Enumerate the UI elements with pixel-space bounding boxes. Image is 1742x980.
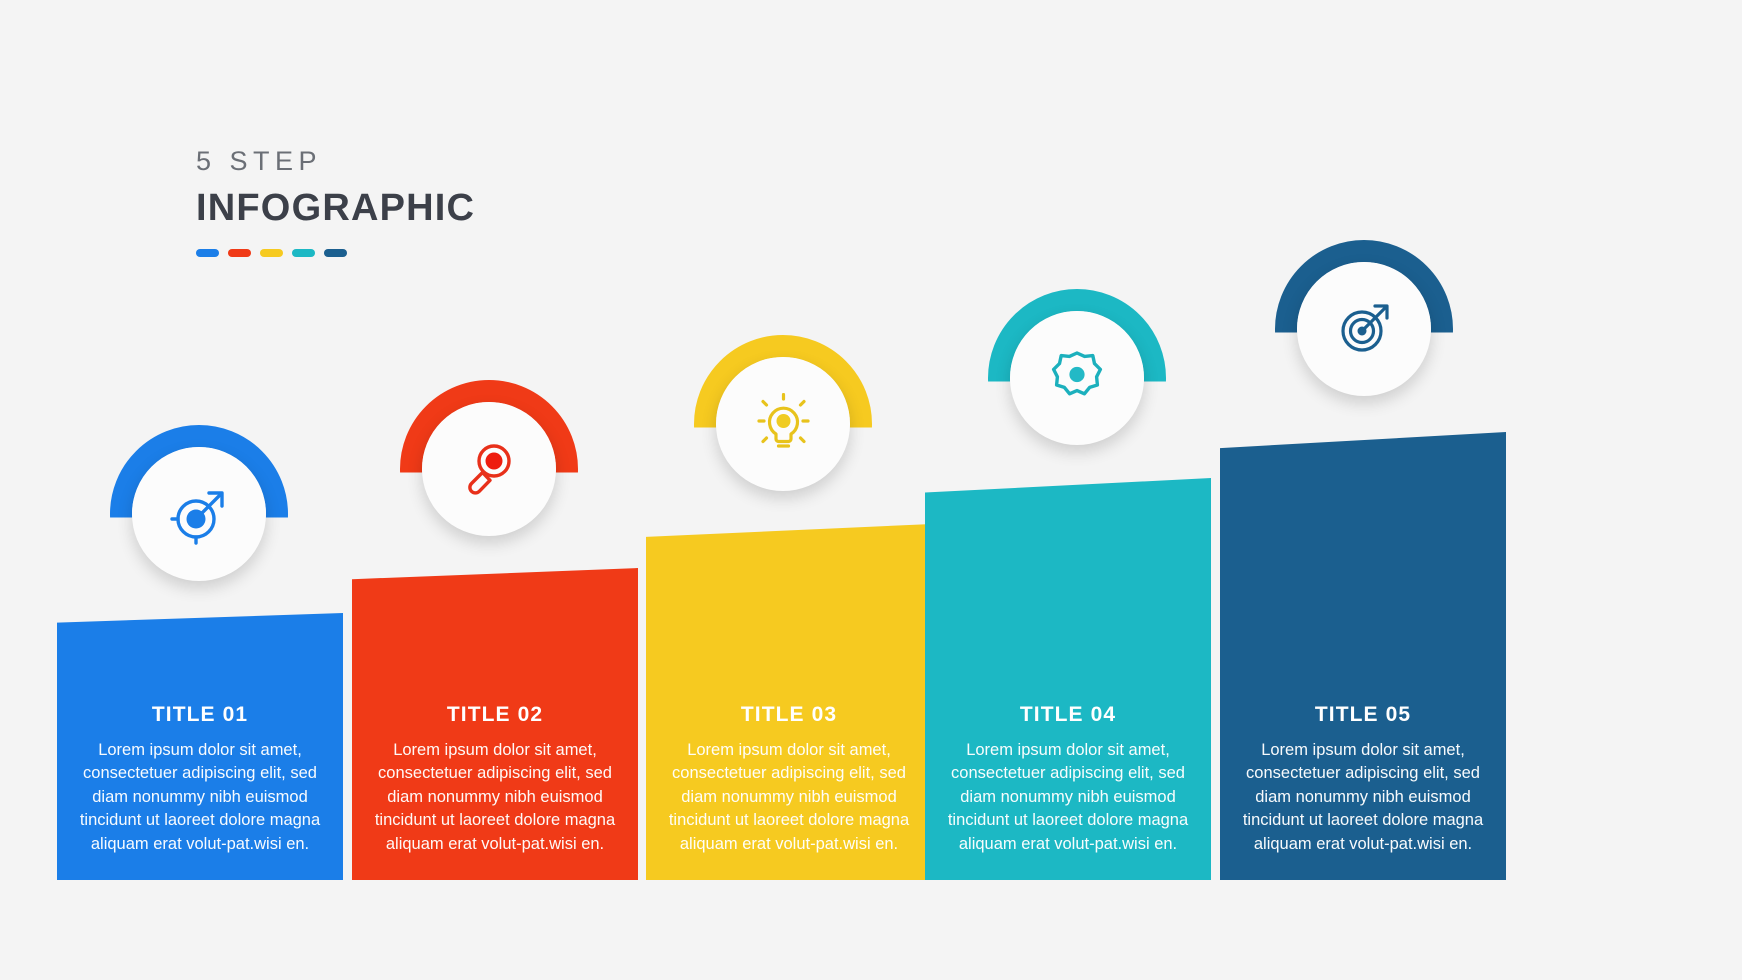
step-panel-3[interactable]: TITLE 03 Lorem ipsum dolor sit amet, con… <box>646 524 932 880</box>
accent-dash-1 <box>196 249 219 257</box>
step-text-1: Lorem ipsum dolor sit amet, consectetuer… <box>71 739 329 856</box>
step-badge-3[interactable] <box>694 335 872 513</box>
dartboard-icon <box>1333 298 1395 360</box>
step-title-1: TITLE 01 <box>71 703 329 727</box>
page-title: INFOGRAPHIC <box>196 189 616 227</box>
accent-dash-3 <box>260 249 283 257</box>
step-text-3: Lorem ipsum dolor sit amet, consectetuer… <box>660 739 918 856</box>
infographic-canvas: 5 STEP INFOGRAPHIC TITLE 01 Lorem ipsum … <box>0 0 1742 980</box>
gear-badge-icon <box>1046 347 1108 409</box>
step-icon-disc-2 <box>422 402 556 536</box>
lightbulb-icon <box>752 393 814 455</box>
step-panel-2[interactable]: TITLE 02 Lorem ipsum dolor sit amet, con… <box>352 568 638 880</box>
step-text-4: Lorem ipsum dolor sit amet, consectetuer… <box>939 739 1197 856</box>
step-title-5: TITLE 05 <box>1234 703 1492 727</box>
step-icon-disc-1 <box>132 447 266 581</box>
step-title-2: TITLE 02 <box>366 703 624 727</box>
accent-dash-4 <box>292 249 315 257</box>
step-panel-1[interactable]: TITLE 01 Lorem ipsum dolor sit amet, con… <box>57 613 343 880</box>
step-badge-5[interactable] <box>1275 240 1453 418</box>
step-icon-disc-3 <box>716 357 850 491</box>
step-panel-4[interactable]: TITLE 04 Lorem ipsum dolor sit amet, con… <box>925 478 1211 880</box>
accent-dash-5 <box>324 249 347 257</box>
header: 5 STEP INFOGRAPHIC <box>196 148 616 257</box>
magnifier-icon <box>458 438 520 500</box>
step-badge-1[interactable] <box>110 425 288 603</box>
step-icon-disc-5 <box>1297 262 1431 396</box>
step-title-4: TITLE 04 <box>939 703 1197 727</box>
step-title-3: TITLE 03 <box>660 703 918 727</box>
step-badge-2[interactable] <box>400 380 578 558</box>
accent-dash-2 <box>228 249 251 257</box>
target-arrow-icon <box>168 483 230 545</box>
step-panel-5[interactable]: TITLE 05 Lorem ipsum dolor sit amet, con… <box>1220 432 1506 880</box>
eyebrow-text: 5 STEP <box>196 148 616 175</box>
step-text-5: Lorem ipsum dolor sit amet, consectetuer… <box>1234 739 1492 856</box>
step-icon-disc-4 <box>1010 311 1144 445</box>
step-badge-4[interactable] <box>988 289 1166 467</box>
step-text-2: Lorem ipsum dolor sit amet, consectetuer… <box>366 739 624 856</box>
accent-dash-row <box>196 249 616 257</box>
